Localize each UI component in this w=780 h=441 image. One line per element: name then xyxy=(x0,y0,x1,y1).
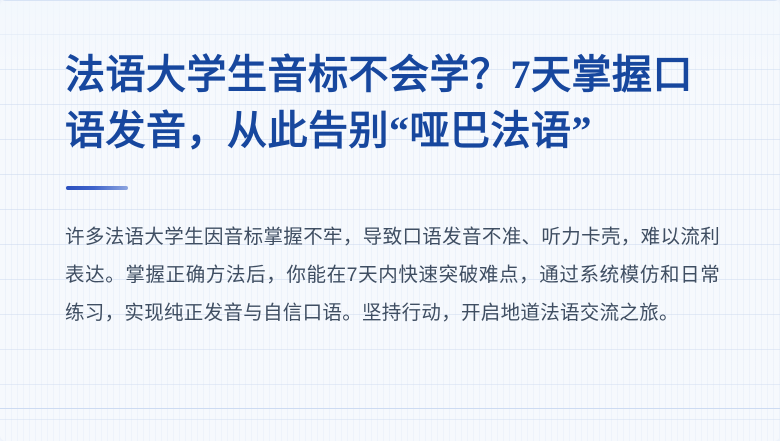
page-title: 法语大学生音标不会学？7天掌握口语发音，从此告别“哑巴法语” xyxy=(65,0,720,159)
body-paragraph: 许多法语大学生因音标掌握不牢，导致口语发音不准、听力卡壳，难以流利表达。掌握正确… xyxy=(65,190,720,332)
article-card: 法语大学生音标不会学？7天掌握口语发音，从此告别“哑巴法语” 许多法语大学生因音… xyxy=(0,0,780,441)
card-bottom-edge xyxy=(0,408,780,409)
card-content: 法语大学生音标不会学？7天掌握口语发音，从此告别“哑巴法语” 许多法语大学生因音… xyxy=(0,0,780,332)
